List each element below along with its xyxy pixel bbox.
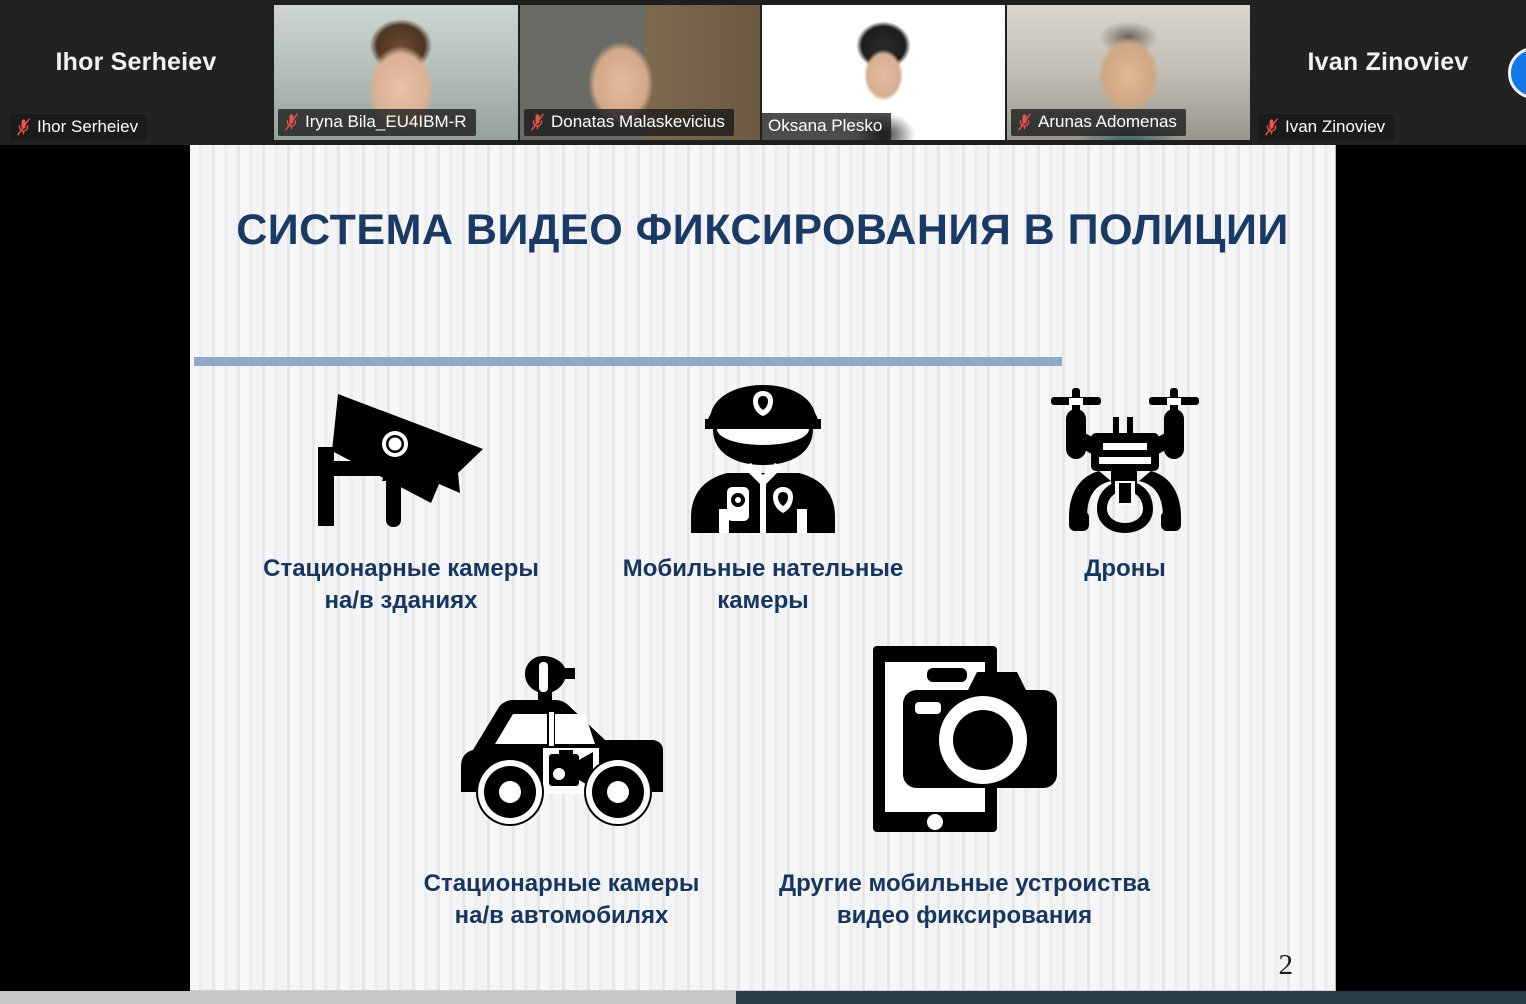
cctv-camera-icon	[308, 375, 494, 535]
participant-badge-name: Ihor Serheiev	[37, 116, 138, 138]
participant-tile-oksana-plesko[interactable]: Oksana Plesko	[762, 5, 1005, 140]
grid-item-drones: Дроны	[944, 375, 1306, 616]
grid-item-caption: Дроны	[1084, 553, 1165, 585]
participant-name-badge: Arunas Adomenas	[1011, 109, 1186, 136]
drone-icon	[1049, 375, 1201, 535]
microphone-muted-icon	[1264, 118, 1279, 137]
participant-badge-name: Donatas Malaskevicius	[551, 111, 725, 133]
microphone-muted-icon	[530, 113, 545, 132]
icon-row-top: Стационарные камеры на/в зданиях	[190, 375, 1336, 616]
grid-item-other-mobile-devices: Другие мобильные устроиства видео фиксир…	[763, 638, 1166, 931]
window-bottom-bar-right	[736, 991, 1526, 1004]
police-officer-bodycam-icon	[683, 375, 843, 535]
participant-badge-name: Ivan Zinoviev	[1285, 116, 1385, 138]
window-bottom-bar-left	[0, 991, 736, 1004]
slide-bottom-edge	[190, 990, 1336, 991]
title-divider	[194, 357, 1062, 366]
participant-tile-iryna-bila[interactable]: Iryna Bila_EU4IBM-R	[274, 5, 518, 140]
grid-item-body-worn-cameras: Мобильные нательные камеры	[582, 375, 944, 616]
page-title: СИСТЕМА ВИДЕО ФИКСИРОВАНИЯ В ПОЛИЦИИ	[190, 203, 1335, 258]
participant-name-badge: Oksana Plesko	[762, 113, 891, 140]
microphone-muted-icon	[284, 113, 299, 132]
participant-badge-name: Oksana Plesko	[768, 115, 882, 137]
screen: Ihor Serheiev Ihor Serheiev	[0, 0, 1526, 1004]
participant-tile-ihor-serheiev[interactable]: Ihor Serheiev Ihor Serheiev	[0, 0, 272, 145]
microphone-muted-icon	[1017, 113, 1032, 132]
participant-name-badge: Donatas Malaskevicius	[524, 109, 734, 136]
grid-item-stationary-building-cameras: Стационарные камеры на/в зданиях	[220, 375, 582, 616]
tablet-camera-icon	[865, 638, 1065, 838]
participant-display-name: Ivan Zinoviev	[1308, 48, 1469, 77]
grid-item-caption: Мобильные нательные камеры	[623, 553, 904, 616]
participant-tile-donatas-malaskevicius[interactable]: Donatas Malaskevicius	[520, 5, 760, 140]
participant-name-badge: Iryna Bila_EU4IBM-R	[278, 109, 476, 136]
zoom-participant-strip: Ihor Serheiev Ihor Serheiev	[0, 0, 1526, 145]
police-car-camera-icon	[455, 638, 669, 838]
shared-screen-slide: СИСТЕМА ВИДЕО ФИКСИРОВАНИЯ В ПОЛИЦИИ	[190, 145, 1336, 990]
participant-name-badge: Ivan Zinoviev	[1258, 114, 1394, 141]
icon-grid: Стационарные камеры на/в зданиях	[190, 375, 1336, 932]
participant-tile-arunas-adomenas[interactable]: Arunas Adomenas	[1007, 5, 1250, 140]
participant-tile-ivan-zinoviev[interactable]: Ivan Zinoviev Ivan Zinoviev	[1250, 0, 1526, 145]
slide-page-number: 2	[1279, 949, 1294, 982]
participant-badge-name: Iryna Bila_EU4IBM-R	[305, 111, 467, 133]
grid-item-vehicle-cameras: Стационарные камеры на/в автомобилях	[360, 638, 763, 931]
participant-name-badge: Ihor Serheiev	[10, 114, 147, 141]
grid-item-caption: Стационарные камеры на/в зданиях	[263, 553, 539, 616]
grid-item-caption: Стационарные камеры на/в автомобилях	[424, 868, 700, 931]
participant-display-name: Ihor Serheiev	[56, 48, 217, 77]
icon-row-bottom: Стационарные камеры на/в автомобилях	[190, 638, 1336, 931]
grid-item-caption: Другие мобильные устроиства видео фиксир…	[779, 868, 1150, 931]
participant-badge-name: Arunas Adomenas	[1038, 111, 1177, 133]
microphone-muted-icon	[16, 118, 31, 137]
